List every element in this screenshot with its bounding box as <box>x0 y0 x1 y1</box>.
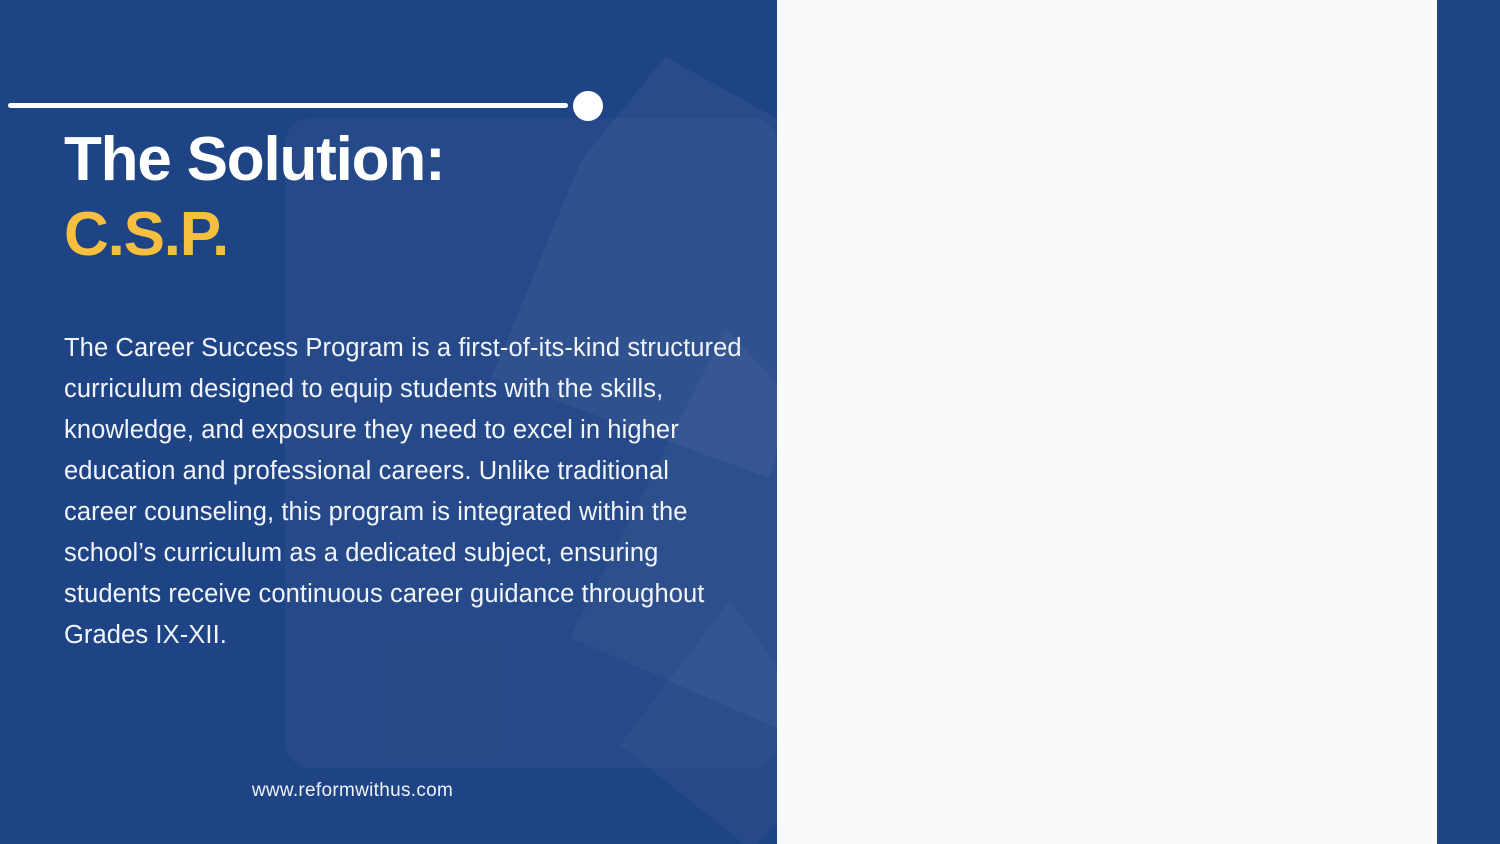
page-title: The Solution: C.S.P. <box>64 128 744 266</box>
right-white-panel: CAREERS CAREERS <box>777 0 1437 844</box>
slide-root: The Solution: C.S.P. The Career Success … <box>0 0 1500 844</box>
headline-line-1: The Solution: <box>64 128 744 191</box>
body-paragraph: The Career Success Program is a first-of… <box>64 328 744 656</box>
headline-line-2: C.S.P. <box>64 203 744 266</box>
top-rule-with-dot <box>8 96 598 116</box>
website-url: www.reformwithus.com <box>64 780 641 802</box>
top-rule-line <box>8 103 568 108</box>
left-blue-panel: The Solution: C.S.P. The Career Success … <box>0 0 777 844</box>
top-rule-dot-icon <box>573 91 603 121</box>
right-edge-accent-band <box>1437 0 1500 844</box>
